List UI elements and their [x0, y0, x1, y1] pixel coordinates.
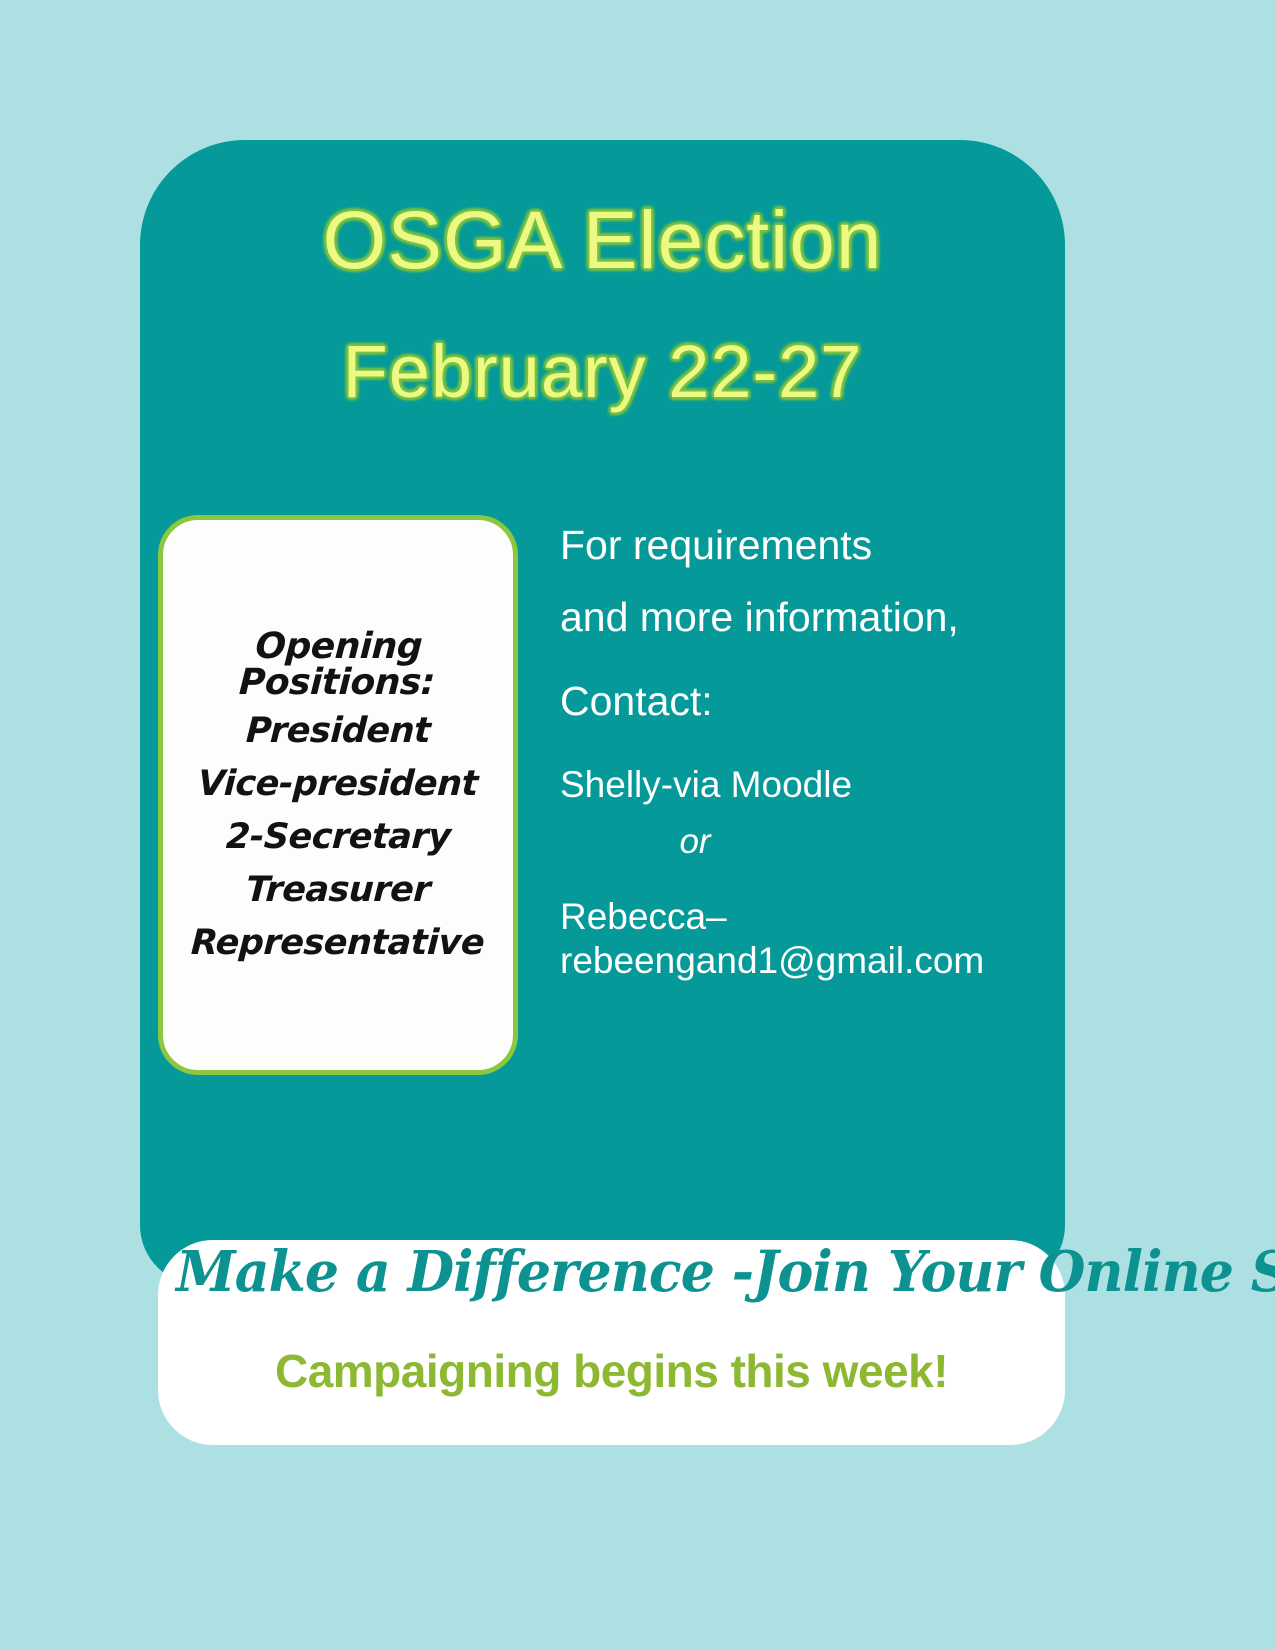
position-item-representative: Representative: [190, 917, 486, 970]
contact-person-rebecca: Rebecca–: [560, 898, 1050, 936]
contact-person-shelly: Shelly-via Moodle: [560, 766, 1050, 804]
requirements-line-1: For requirements: [560, 525, 1050, 567]
banner-slogan: Make a Difference -Join Your Online SGA!: [176, 1244, 1047, 1300]
call-to-action-banner: Make a Difference -Join Your Online SGA!…: [158, 1240, 1065, 1445]
position-item-president: President: [244, 705, 431, 758]
requirements-line-2: and more information,: [560, 597, 1050, 639]
banner-campaigning-note: Campaigning begins this week!: [158, 1348, 1065, 1394]
contact-information: For requirements and more information, C…: [560, 525, 1050, 979]
position-item-secretary: 2-Secretary: [224, 811, 451, 864]
position-item-treasurer: Treasurer: [245, 864, 432, 917]
opening-positions-card: Opening Positions: President Vice-presid…: [158, 515, 518, 1075]
page-title: OSGA Election: [140, 200, 1065, 282]
contact-separator-or: or: [560, 824, 830, 860]
positions-heading: Opening Positions:: [171, 620, 505, 705]
contact-label: Contact:: [560, 681, 1050, 723]
event-dates: February 22-27: [140, 335, 1065, 409]
contact-email-address[interactable]: rebeengand1@gmail.com: [560, 942, 1050, 980]
position-item-vice-president: Vice-president: [197, 758, 480, 811]
poster-main-panel: OSGA Election February 22-27 Opening Pos…: [140, 140, 1065, 1285]
